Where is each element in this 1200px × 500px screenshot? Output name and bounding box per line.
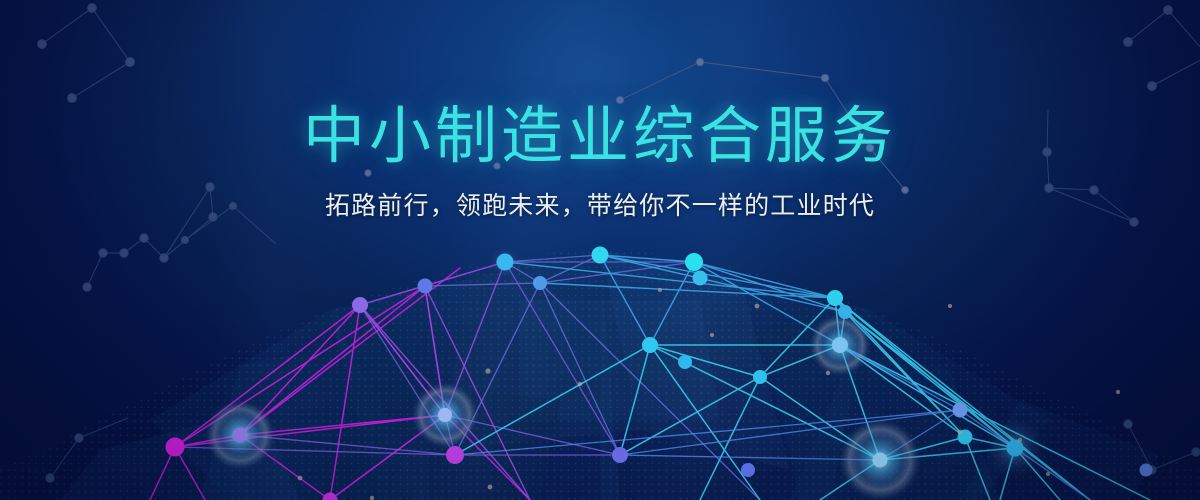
page-title: 中小制造业综合服务 — [0, 104, 1200, 170]
dome-edges-cyan — [455, 255, 1150, 500]
hero-banner: 中小制造业综合服务 拓路前行，领跑未来，带给你不一样的工业时代 — [0, 0, 1200, 500]
page-subtitle: 拓路前行，领跑未来，带给你不一样的工业时代 — [0, 191, 1200, 221]
node-glow-group — [204, 246, 1045, 500]
headline-block: 中小制造业综合服务 拓路前行，领跑未来，带给你不一样的工业时代 — [0, 0, 1200, 221]
